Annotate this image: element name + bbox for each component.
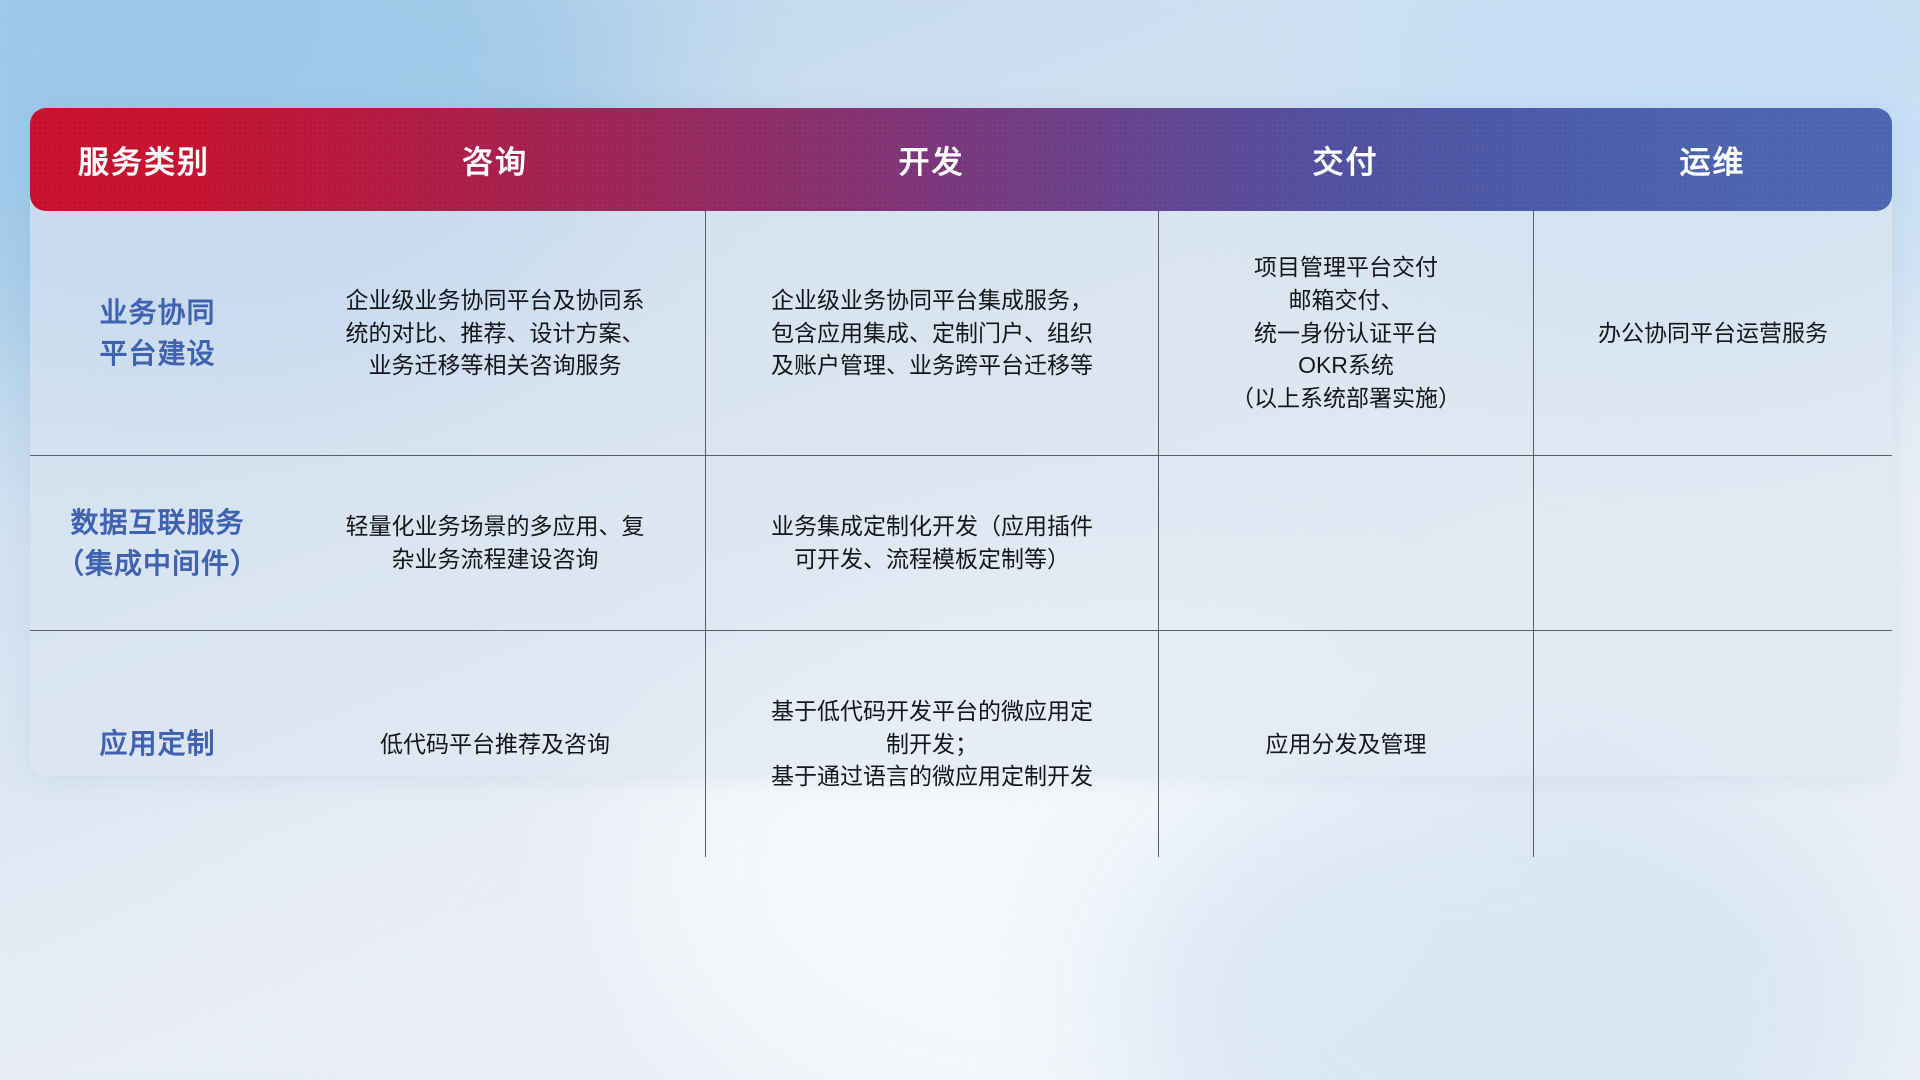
cell-text: 企业级业务协同平台集成服务， 包含应用集成、定制门户、组织 及账户管理、业务跨平… bbox=[771, 284, 1093, 382]
row-label-cell: 应用定制 bbox=[30, 631, 285, 857]
cell-text: 低代码平台推荐及咨询 bbox=[380, 728, 610, 761]
cell-development: 业务集成定制化开发（应用插件 可开发、流程模板定制等） bbox=[705, 456, 1158, 630]
table-header-row: 服务类别 咨询 开发 交付 运维 bbox=[30, 108, 1892, 211]
cell-development: 企业级业务协同平台集成服务， 包含应用集成、定制门户、组织 及账户管理、业务跨平… bbox=[705, 211, 1158, 455]
cell-delivery bbox=[1158, 456, 1533, 630]
column-header-development: 开发 bbox=[705, 137, 1158, 182]
row-label-data-interconnect: 数据互联服务 （集成中间件） bbox=[56, 502, 259, 585]
cell-delivery: 应用分发及管理 bbox=[1158, 631, 1533, 857]
cell-operations bbox=[1533, 456, 1892, 630]
row-label-business-collaboration: 业务协同 平台建设 bbox=[99, 292, 215, 375]
cell-text: 基于低代码开发平台的微应用定 制开发； 基于通过语言的微应用定制开发 bbox=[771, 695, 1093, 793]
cell-text: 轻量化业务场景的多应用、复 杂业务流程建设咨询 bbox=[346, 510, 645, 575]
cell-consulting: 低代码平台推荐及咨询 bbox=[285, 631, 705, 857]
service-matrix-table: 服务类别 咨询 开发 交付 运维 业务协同 平台建设 企业级业务协同平台及协同系… bbox=[30, 108, 1892, 776]
column-header-operations: 运维 bbox=[1533, 137, 1892, 182]
column-header-service-category: 服务类别 bbox=[30, 137, 285, 182]
cell-operations: 办公协同平台运营服务 bbox=[1533, 211, 1892, 455]
cell-text: 企业级业务协同平台及协同系 统的对比、推荐、设计方案、 业务迁移等相关咨询服务 bbox=[346, 284, 645, 382]
row-label-app-customization: 应用定制 bbox=[99, 723, 215, 764]
row-label-cell: 数据互联服务 （集成中间件） bbox=[30, 456, 285, 630]
row-label-cell: 业务协同 平台建设 bbox=[30, 211, 285, 455]
table-row: 数据互联服务 （集成中间件） 轻量化业务场景的多应用、复 杂业务流程建设咨询 业… bbox=[30, 456, 1892, 631]
column-header-delivery: 交付 bbox=[1158, 137, 1533, 182]
cell-text: 办公协同平台运营服务 bbox=[1598, 317, 1828, 350]
table-row: 应用定制 低代码平台推荐及咨询 基于低代码开发平台的微应用定 制开发； 基于通过… bbox=[30, 631, 1892, 857]
cell-text: 应用分发及管理 bbox=[1266, 728, 1427, 761]
cell-text: 项目管理平台交付 邮箱交付、 统一身份认证平台 OKR系统 （以上系统部署实施） bbox=[1231, 251, 1461, 414]
cell-consulting: 企业级业务协同平台及协同系 统的对比、推荐、设计方案、 业务迁移等相关咨询服务 bbox=[285, 211, 705, 455]
cell-operations bbox=[1533, 631, 1892, 857]
table-row: 业务协同 平台建设 企业级业务协同平台及协同系 统的对比、推荐、设计方案、 业务… bbox=[30, 211, 1892, 456]
column-header-consulting: 咨询 bbox=[285, 137, 705, 182]
table-body: 业务协同 平台建设 企业级业务协同平台及协同系 统的对比、推荐、设计方案、 业务… bbox=[30, 211, 1892, 776]
cell-development: 基于低代码开发平台的微应用定 制开发； 基于通过语言的微应用定制开发 bbox=[705, 631, 1158, 857]
cell-delivery: 项目管理平台交付 邮箱交付、 统一身份认证平台 OKR系统 （以上系统部署实施） bbox=[1158, 211, 1533, 455]
cell-text: 业务集成定制化开发（应用插件 可开发、流程模板定制等） bbox=[771, 510, 1093, 575]
cell-consulting: 轻量化业务场景的多应用、复 杂业务流程建设咨询 bbox=[285, 456, 705, 630]
page-root: 服务类别 咨询 开发 交付 运维 业务协同 平台建设 企业级业务协同平台及协同系… bbox=[0, 0, 1920, 1080]
